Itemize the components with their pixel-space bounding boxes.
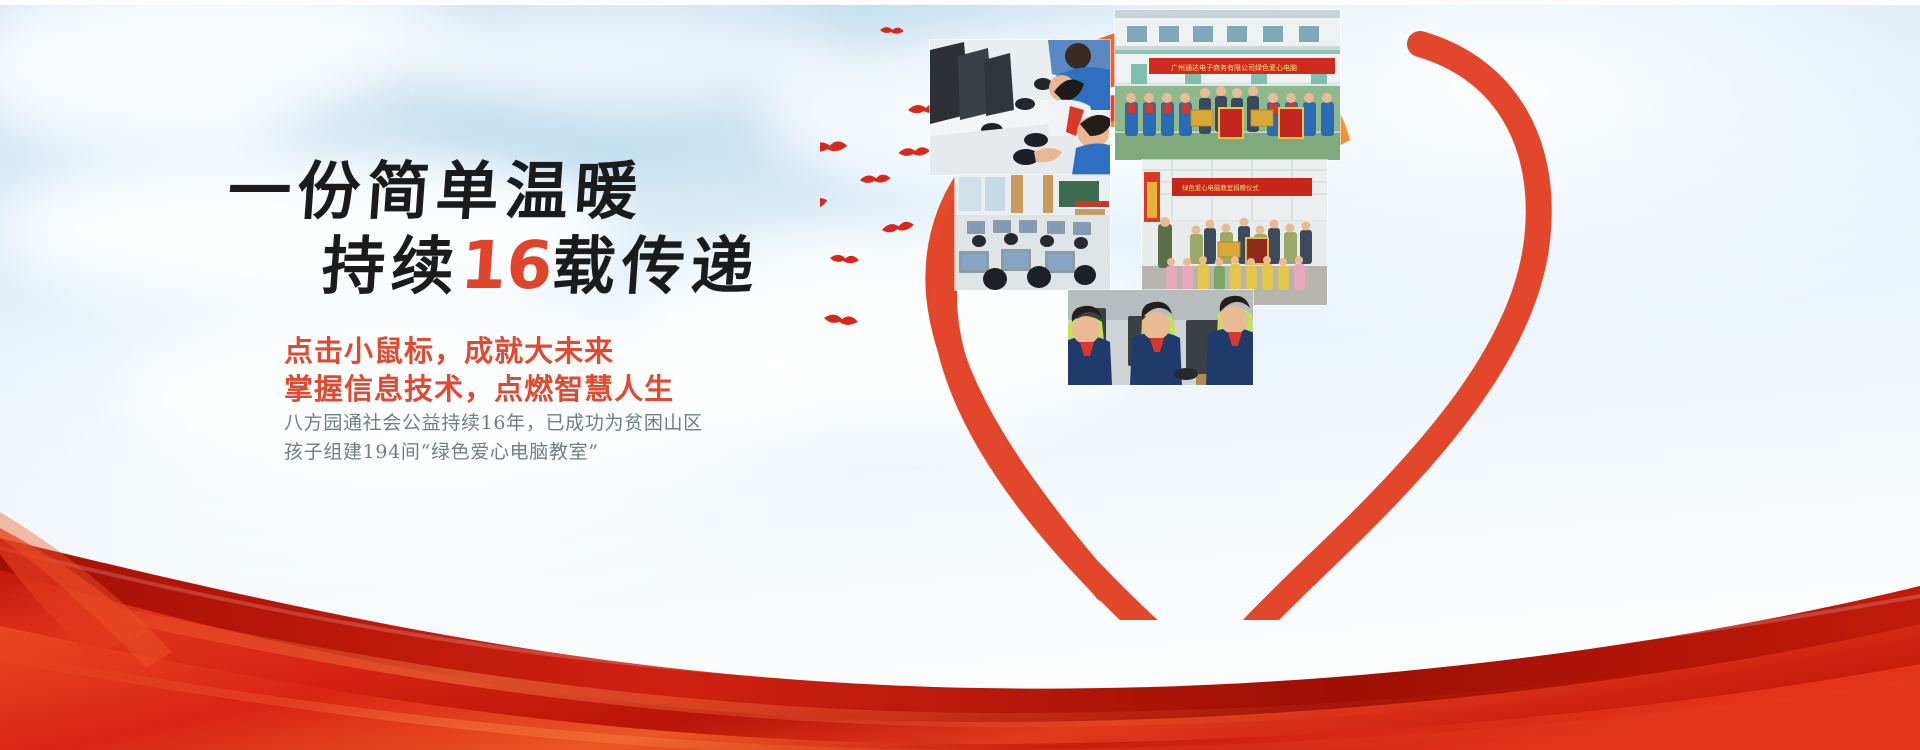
photo-art: 广州通达电子商务有限公司绿色爱心电脑 [1115,10,1340,160]
headline-prefix: 持续 [319,229,463,303]
subheading-line-2: 掌握信息技术，点燃智慧人生 [284,366,674,408]
body-line-1: 八方园通社会公益持续16年，已成功为贫困山区 [284,408,703,435]
heart-photo-collage: 广州通达电子商务有限公司绿色爱心电脑 [820,0,1920,620]
photo-art [1068,290,1253,385]
subheading-line-1: 点击小鼠标，成就大未来 [284,328,614,370]
banner-text-block: 一份简单温暖 持续16载传递 点击小鼠标，成就大未来 掌握信息技术，点燃智慧人生… [0,0,900,600]
photo-school-donation-ceremony-group: 广州通达电子商务有限公司绿色爱心电脑 [1115,10,1340,160]
photo-art [955,175,1110,290]
photo-art [930,40,1110,175]
headline-line-2: 持续16载传递 [320,233,763,299]
charity-hero-banner: 广州通达电子商务有限公司绿色爱心电脑 [0,0,1920,750]
body-line-2: 孩子组建194间“绿色爱心电脑教室” [284,437,599,464]
photo-computer-classroom-overview [955,175,1110,290]
photo-art: 绿色爱心电脑教室捐赠仪式 [1142,160,1327,305]
headline-years-number: 16 [458,227,555,304]
svg-text:绿色爱心电脑教室捐赠仪式: 绿色爱心电脑教室捐赠仪式 [1182,183,1259,192]
photo-donation-ceremony-indoor-group: 绿色爱心电脑教室捐赠仪式 [1142,160,1327,305]
headline-line-1: 一份简单温暖 [226,160,646,223]
headline-suffix: 载传递 [550,229,763,303]
top-white-strip [0,0,1920,5]
photo-boys-using-computers [1068,290,1253,385]
photo-students-at-computers-closeup [930,40,1110,175]
svg-text:广州通达电子商务有限公司绿色爱心电脑: 广州通达电子商务有限公司绿色爱心电脑 [1171,63,1297,72]
